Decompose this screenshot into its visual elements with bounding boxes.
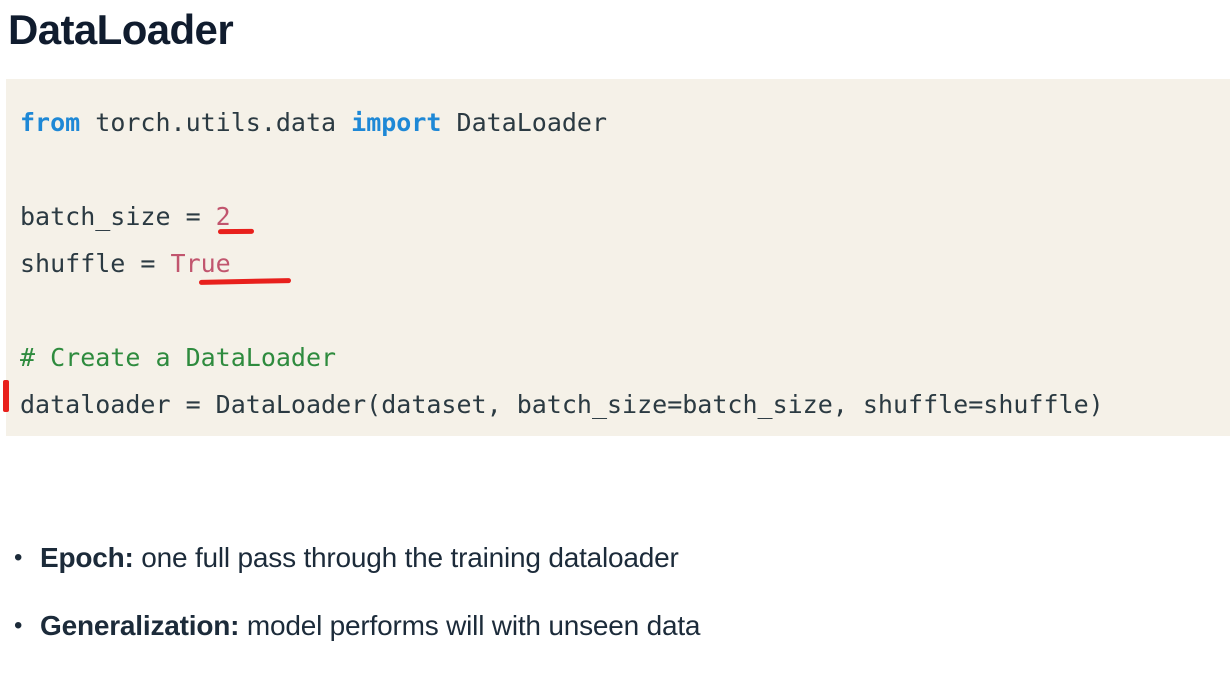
bullet-term-epoch: Epoch: (40, 542, 134, 573)
code-line-import: from torch.utils.data import DataLoader (20, 99, 1230, 146)
code-line-blank-2 (20, 287, 1230, 334)
code-line-dataloader: dataloader = DataLoader(dataset, batch_s… (20, 381, 1230, 428)
shuffle-assignment: shuffle = (20, 249, 171, 278)
keyword-import: import (351, 108, 441, 137)
bullet-dot-icon: • (10, 538, 40, 578)
bullet-dot-icon: • (10, 606, 40, 646)
red-underline-batch-size-value (218, 229, 254, 234)
code-line-comment: # Create a DataLoader (20, 334, 1230, 381)
bullet-term-generalization: Generalization: (40, 610, 239, 641)
code-line-blank-1 (20, 146, 1230, 193)
batch-size-assignment: batch_size = (20, 202, 216, 231)
list-item: • Epoch: one full pass through the train… (10, 538, 1190, 578)
bullet-text-epoch: one full pass through the training datal… (134, 542, 679, 573)
import-module-path: torch.utils.data (80, 108, 351, 137)
list-item: • Generalization: model performs will wi… (10, 606, 1190, 646)
code-comment: # Create a DataLoader (20, 343, 336, 372)
batch-size-value: 2 (216, 202, 231, 231)
red-cursor-mark (3, 380, 9, 412)
shuffle-value: True (171, 249, 231, 278)
bullet-list: • Epoch: one full pass through the train… (10, 538, 1190, 674)
bullet-text-generalization: model performs will with unseen data (239, 610, 700, 641)
code-line-batch-size: batch_size = 2 (20, 193, 1230, 240)
page-title: DataLoader (8, 4, 233, 57)
code-block: from torch.utils.data import DataLoader … (6, 79, 1230, 436)
import-symbol-name: DataLoader (441, 108, 607, 137)
keyword-from: from (20, 108, 80, 137)
